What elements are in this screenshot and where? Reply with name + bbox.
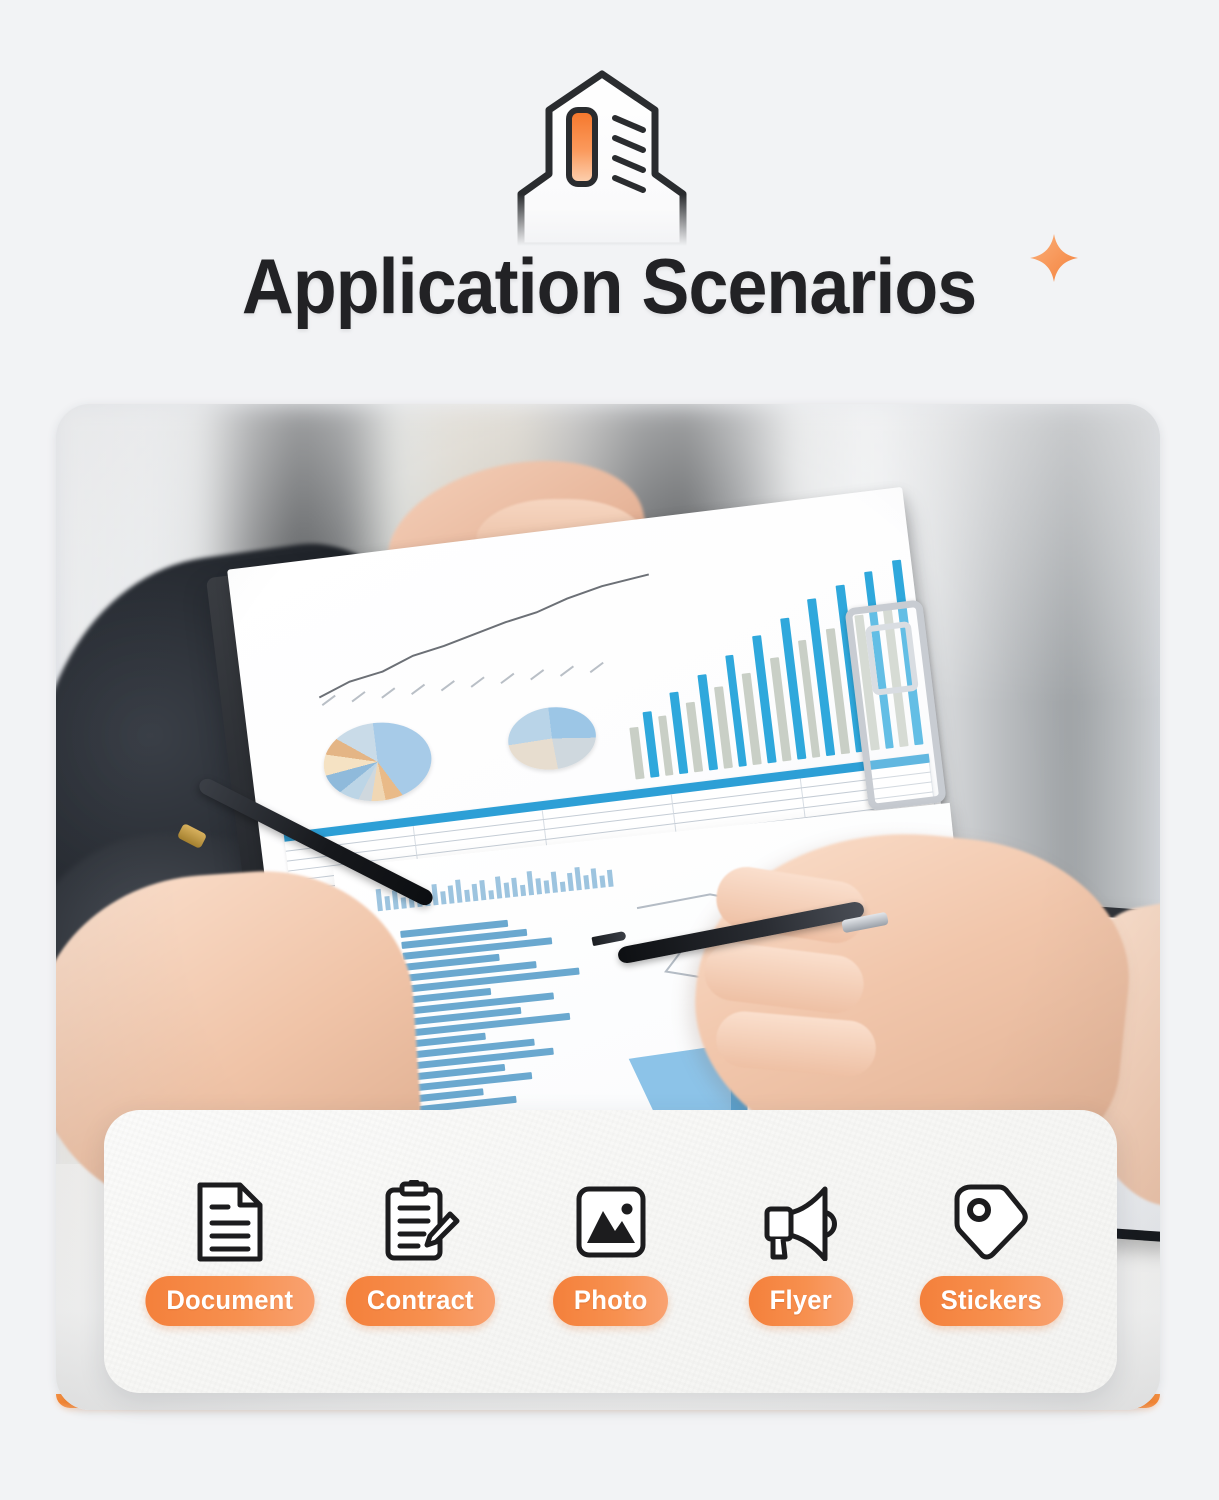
scenario-item-flyer[interactable]: Flyer [711, 1178, 891, 1326]
contract-clipboard-icon [380, 1178, 460, 1266]
megaphone-flyer-icon [759, 1178, 843, 1266]
building-tower-icon [497, 66, 707, 246]
photo-image-icon [573, 1178, 649, 1266]
application-scenarios-card: Document [104, 1110, 1117, 1393]
page-title: Application Scenarios [242, 243, 976, 329]
scenario-label-flyer: Flyer [749, 1276, 853, 1326]
price-tag-sticker-icon [951, 1178, 1031, 1266]
application-scenarios-page: Application Scenarios [0, 0, 1219, 1500]
scenario-label-photo: Photo [553, 1276, 668, 1326]
page-header: Application Scenarios [0, 0, 1219, 392]
sparkle-star-icon [1028, 232, 1080, 284]
document-icon [194, 1178, 266, 1266]
scenario-label-contract: Contract [346, 1276, 495, 1326]
scenario-label-document: Document [146, 1276, 315, 1326]
scenario-item-document[interactable]: Document [140, 1178, 320, 1326]
scenario-item-stickers[interactable]: Stickers [901, 1178, 1081, 1326]
scenario-items: Document [104, 1110, 1117, 1393]
scenario-item-contract[interactable]: Contract [330, 1178, 510, 1326]
scenario-item-photo[interactable]: Photo [521, 1178, 701, 1326]
scenario-label-stickers: Stickers [919, 1276, 1062, 1326]
